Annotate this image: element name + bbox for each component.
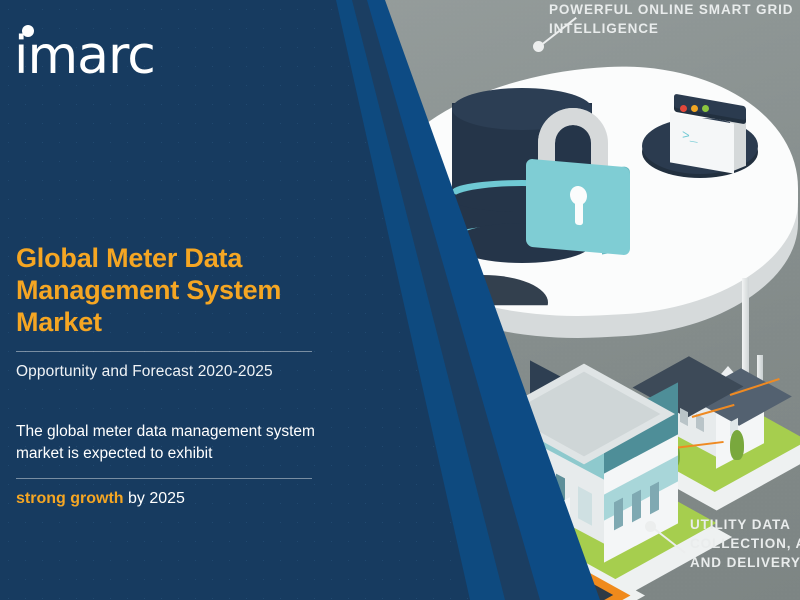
logo-wordmark: imarc [14, 26, 155, 80]
office-window [650, 482, 659, 515]
report-cover: >_ [0, 0, 800, 600]
report-subtitle: Opportunity and Forecast 2020-2025 [16, 363, 346, 381]
report-title: Global Meter Data Management System Mark… [16, 243, 346, 339]
office-window [632, 490, 641, 523]
office-window [614, 498, 623, 531]
report-lede: The global meter data management system … [16, 421, 346, 466]
growth-rest: by 2025 [124, 490, 185, 507]
imarc-logo-mark: imarc [14, 18, 194, 80]
callout-bottom-label: UTILITY DATA COLLECTION, ANALYSIS AND DE… [690, 515, 800, 572]
imarc-logo[interactable]: imarc [14, 18, 194, 80]
lede-divider [16, 478, 312, 479]
callout-top-label: POWERFUL ONLINE SMART GRID INTELLIGENCE [549, 0, 799, 38]
lede-block: The global meter data management system … [16, 421, 346, 508]
status-led-orange-icon [691, 105, 698, 112]
title-divider [16, 351, 312, 352]
cover-copy-block: Global Meter Data Management System Mark… [16, 243, 346, 508]
status-led-green-icon [702, 105, 709, 112]
growth-highlight: strong growth [16, 490, 124, 507]
status-led-red-icon [680, 105, 687, 112]
growth-statement: strong growth by 2025 [16, 490, 346, 508]
terminal-prompt-text: >_ [682, 128, 698, 146]
tree [730, 430, 744, 460]
server-terminal-icon: >_ [642, 96, 758, 188]
